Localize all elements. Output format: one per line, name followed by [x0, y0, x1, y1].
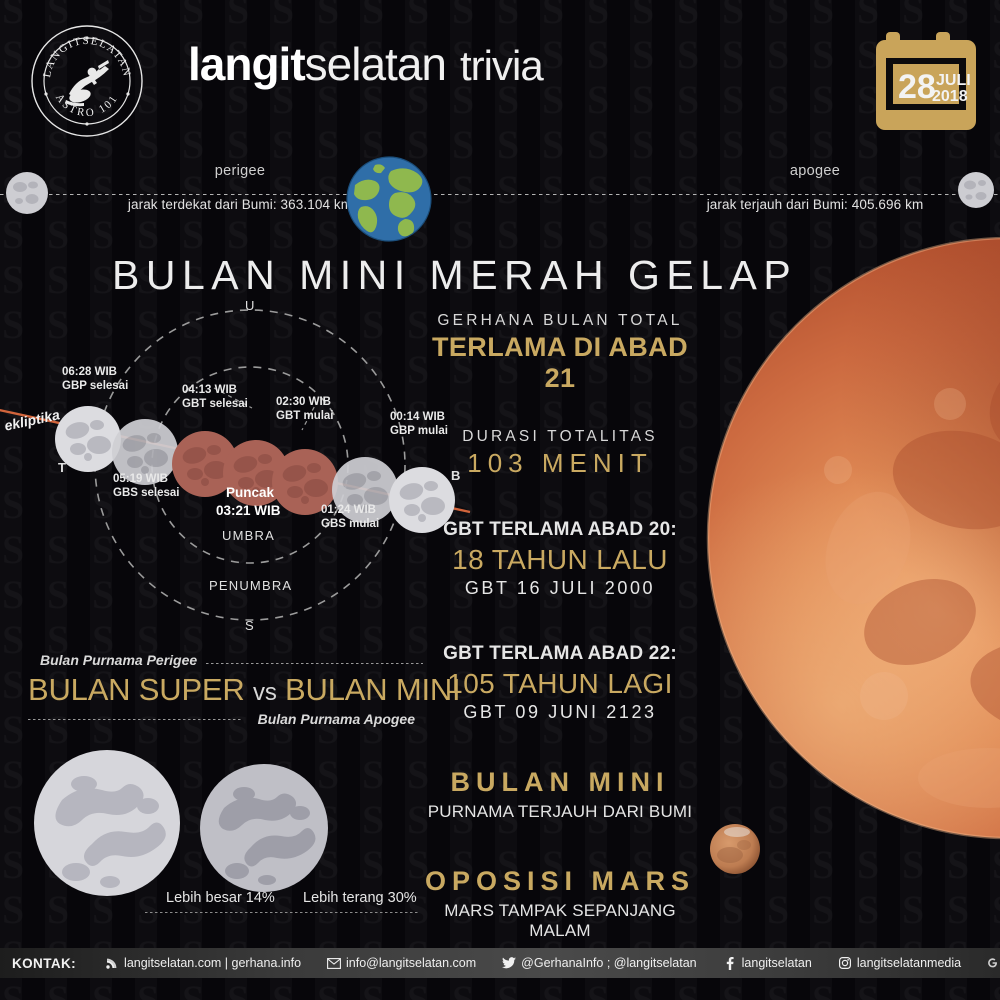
contact-website[interactable]: langitselatan.com | gerhana.info — [92, 956, 314, 970]
langitselatan-logo: LANGITSELATAN ASTRO 101 — [28, 22, 146, 140]
cardinal-north: U — [245, 298, 256, 313]
peak-time: 03:21 WIB — [216, 503, 281, 518]
apogee-detail: jarak terjauh dari Bumi: 405.696 km — [600, 197, 1000, 212]
supermoon-illustration — [32, 748, 182, 903]
mars-illustration — [706, 820, 764, 878]
mail-icon — [327, 957, 341, 970]
facebook-icon — [723, 957, 737, 970]
compare-dotted-rule — [145, 912, 420, 913]
peak-label: Puncak — [226, 485, 274, 500]
phase-label-gbt-selesai: 04:13 WIB GBT selesai — [182, 383, 248, 411]
blood-moon-illustration — [688, 218, 1000, 858]
calendar-year: 2018 — [932, 88, 968, 105]
caption-brighter: Lebih terang 30% — [303, 890, 417, 906]
apogee-block: apogee jarak terjauh dari Bumi: 405.696 … — [600, 163, 1000, 212]
calendar-day: 28 — [898, 68, 936, 106]
bottom-dotted-rule — [28, 719, 241, 720]
contact-label: KONTAK: — [0, 956, 92, 971]
compare-headline-right: BULAN MINI — [285, 672, 460, 707]
apogee-fullmoon-label: Bulan Purnama Apogee — [258, 711, 415, 727]
cardinal-west: T — [58, 460, 67, 475]
compare-headline: BULAN SUPER vs BULAN MINI — [28, 672, 423, 708]
minimoon-subtitle: PURNAMA TERJAUH DARI BUMI — [415, 802, 705, 822]
minimoon-title: BULAN MINI — [415, 767, 705, 798]
perigee-fullmoon-label: Bulan Purnama Perigee — [40, 652, 197, 668]
calendar-month: JULI — [936, 72, 971, 89]
calendar-badge: 28 JULI 2018 — [874, 28, 978, 134]
duration-value: 103 MENIT — [415, 448, 705, 479]
contact-twitter-text: @GerhanaInfo ; @langitselatan — [521, 956, 696, 970]
century20-date: GBT 16 JULI 2000 — [415, 578, 705, 599]
century20-value: 18 TAHUN LALU — [415, 544, 705, 576]
century20-head: GBT TERLAMA ABAD 20: — [415, 519, 705, 541]
stats-column: GERHANA BULAN TOTAL TERLAMA DI ABAD 21 D… — [415, 312, 705, 941]
contact-instagram[interactable]: langitselatanmedia — [825, 956, 974, 970]
earth-icon — [345, 155, 433, 243]
contact-facebook[interactable]: langitselatan — [710, 956, 825, 970]
phase-label-gbs-selesai: 05:19 WIB GBS selesai — [113, 472, 179, 500]
infographic-poster: SSSSSSSSSSSSSSSSSSSSSSSSSSSSSSSSSSSSSSSS… — [0, 0, 1000, 1000]
mars-title: OPOSISI MARS — [415, 866, 705, 897]
minimoon-illustration — [198, 762, 330, 899]
supermoon-vs-minimoon-header: Bulan Purnama Perigee BULAN SUPER vs BUL… — [28, 652, 423, 731]
eclipse-path-diagram: ekliptika U S T B 06:28 WIB GBP selesai … — [0, 300, 480, 650]
contact-googleplus[interactable]: +LangitselatanMedia — [974, 956, 1000, 970]
compare-headline-left: BULAN SUPER — [28, 672, 245, 707]
apogee-title: apogee — [600, 163, 1000, 179]
brand-selatan: selatan — [305, 38, 446, 90]
brand-trivia: trivia — [460, 42, 543, 89]
contact-twitter[interactable]: @GerhanaInfo ; @langitselatan — [489, 956, 709, 970]
phase-label-gbp-selesai: 06:28 WIB GBP selesai — [62, 365, 128, 393]
eclipse-kicker: GERHANA BULAN TOTAL — [415, 312, 705, 330]
instagram-icon — [838, 957, 852, 970]
brand-langit: langit — [188, 38, 305, 90]
contact-instagram-text: langitselatanmedia — [857, 956, 961, 970]
penumbra-label: PENUMBRA — [209, 578, 292, 593]
phase-label-gbt-mulai: 02:30 WIB GBT mulai — [276, 395, 334, 423]
googleplus-icon — [987, 957, 1000, 970]
contact-facebook-text: langitselatan — [742, 956, 812, 970]
svg-text:LANGITSELATAN: LANGITSELATAN — [41, 35, 133, 79]
mars-subtitle: MARS TAMPAK SEPANJANG MALAM — [415, 901, 705, 941]
cardinal-south: S — [245, 618, 255, 633]
century22-head: GBT TERLAMA ABAD 22: — [415, 643, 705, 665]
contact-email[interactable]: info@langitselatan.com — [314, 956, 489, 970]
top-dotted-rule — [206, 663, 423, 664]
caption-bigger: Lebih besar 14% — [166, 890, 275, 906]
phase-label-gbs-mulai: 01:24 WIB GBS mulai — [321, 503, 379, 531]
contact-email-text: info@langitselatan.com — [346, 956, 476, 970]
rss-icon — [105, 957, 119, 970]
umbra-label: UMBRA — [222, 528, 275, 543]
eclipse-headline: TERLAMA DI ABAD 21 — [415, 332, 705, 394]
compare-headline-vs: vs — [253, 679, 277, 706]
duration-kicker: DURASI TOTALITAS — [415, 428, 705, 446]
twitter-icon — [502, 957, 516, 970]
perigee-moon-icon — [4, 170, 50, 221]
brand-title: langitselatantrivia — [188, 37, 543, 91]
contact-footer: KONTAK: langitselatan.com | gerhana.info… — [0, 948, 1000, 978]
contact-website-text: langitselatan.com | gerhana.info — [124, 956, 301, 970]
